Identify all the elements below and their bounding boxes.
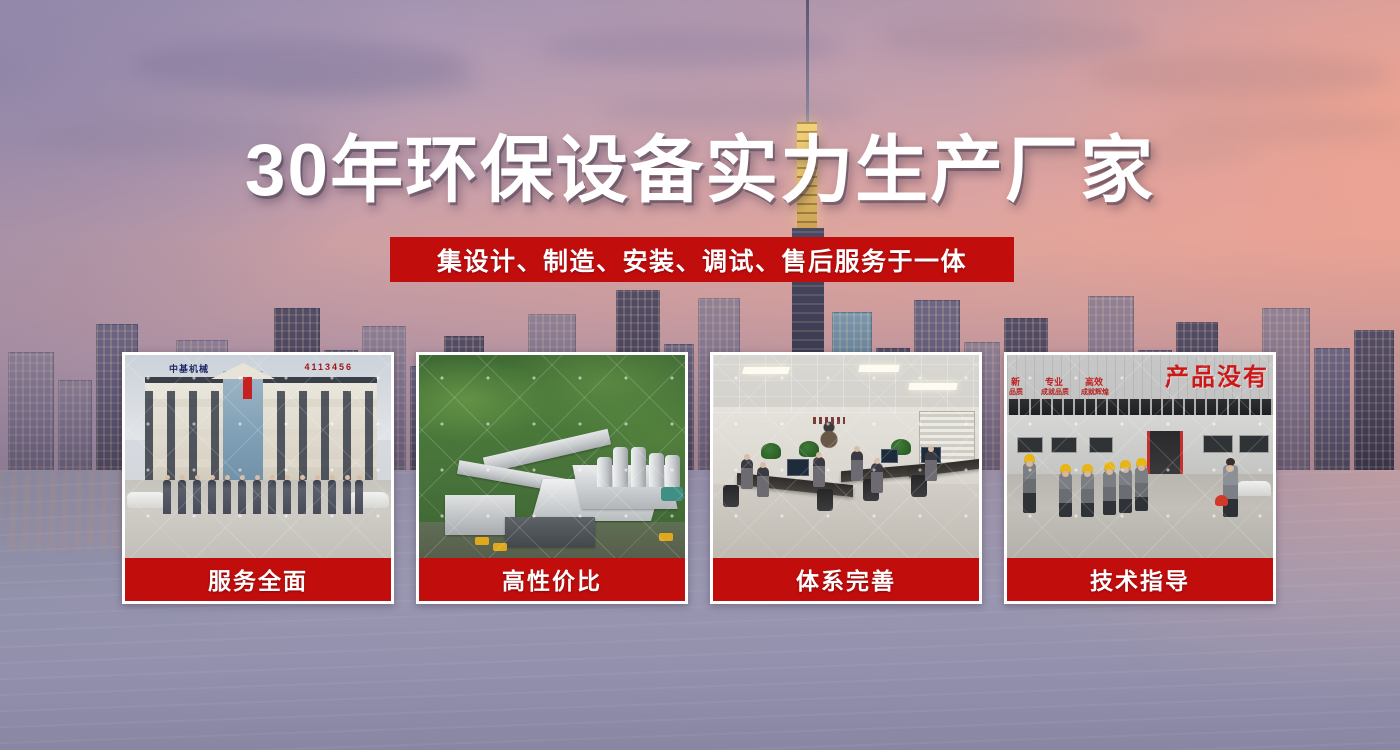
office-worker (851, 451, 863, 481)
staff-lineup (163, 478, 363, 514)
silo (613, 447, 628, 487)
silo (665, 455, 680, 487)
chair (723, 485, 739, 507)
card-caption-bar: 服务全面 (125, 558, 391, 601)
monitor (881, 449, 898, 463)
cloud (250, 62, 480, 100)
office-worker (757, 467, 769, 497)
red-helmet-icon (1215, 495, 1228, 506)
worker (1119, 469, 1132, 513)
worker (1135, 467, 1148, 511)
banner-subtitle-bar: 集设计、制造、安装、调试、售后服务于一体 (390, 237, 1014, 282)
factory-slogan-sub: 品质 (1009, 387, 1023, 397)
car (1237, 481, 1271, 496)
worker (1081, 473, 1094, 517)
card-caption-bar: 高性价比 (419, 558, 685, 601)
feature-card-list: 中基机械 4113456 服务全面 (122, 352, 1278, 604)
card-caption-text: 体系完善 (796, 562, 896, 596)
feature-card[interactable]: 产品没有 新 专业 高效 品质 成就品质 成就辉煌 (1004, 352, 1276, 604)
feature-card[interactable]: 高性价比 (416, 352, 688, 604)
card-caption-bar: 技术指导 (1007, 558, 1273, 601)
card-caption-text: 技术指导 (1090, 562, 1190, 596)
feature-card[interactable]: 体系完善 (710, 352, 982, 604)
factory-slogan-sub: 成就辉煌 (1081, 387, 1109, 397)
monitor (787, 459, 809, 476)
office-worker (871, 463, 883, 493)
worker (1059, 473, 1072, 517)
silo (597, 457, 612, 487)
card-photo-office-interior (713, 355, 979, 558)
promo-banner: 30年环保设备实力生产厂家 集设计、制造、安装、调试、售后服务于一体 中基机械 … (0, 0, 1400, 750)
office-worker (925, 451, 937, 481)
potted-plant (761, 443, 781, 459)
cloud (1090, 52, 1390, 98)
instructor (1223, 465, 1238, 517)
banner-headline: 30年环保设备实力生产厂家 (0, 133, 1400, 209)
card-photo-workshop-training: 产品没有 新 专业 高效 品质 成就品质 成就辉煌 (1007, 355, 1273, 558)
office-worker (741, 459, 753, 489)
card-caption-text: 服务全面 (208, 562, 308, 596)
worker (1023, 463, 1036, 513)
cloud (880, 18, 1150, 60)
flag-icon (243, 377, 252, 399)
banner-subtitle-text: 集设计、制造、安装、调试、售后服务于一体 (437, 242, 967, 278)
excavator (493, 543, 507, 551)
card-photo-office-building: 中基机械 4113456 (125, 355, 391, 558)
car (127, 492, 167, 508)
factory-headline-sign: 产品没有 (1165, 357, 1269, 392)
factory-door (1147, 431, 1183, 477)
building-company-sign: 中基机械 (169, 362, 209, 375)
card-caption-text: 高性价比 (502, 562, 602, 596)
building-phone-sign: 4113456 (304, 362, 353, 372)
excavator (475, 537, 489, 545)
chair (817, 489, 833, 511)
factory-slogan-sub: 成就品质 (1041, 387, 1069, 397)
silo (649, 453, 664, 487)
card-caption-bar: 体系完善 (713, 558, 979, 601)
worker (1103, 471, 1116, 515)
office-worker (813, 457, 825, 487)
card-photo-plant-aerial (419, 355, 685, 558)
excavator (659, 533, 673, 541)
feature-card[interactable]: 中基机械 4113456 服务全面 (122, 352, 394, 604)
silo (631, 447, 646, 487)
